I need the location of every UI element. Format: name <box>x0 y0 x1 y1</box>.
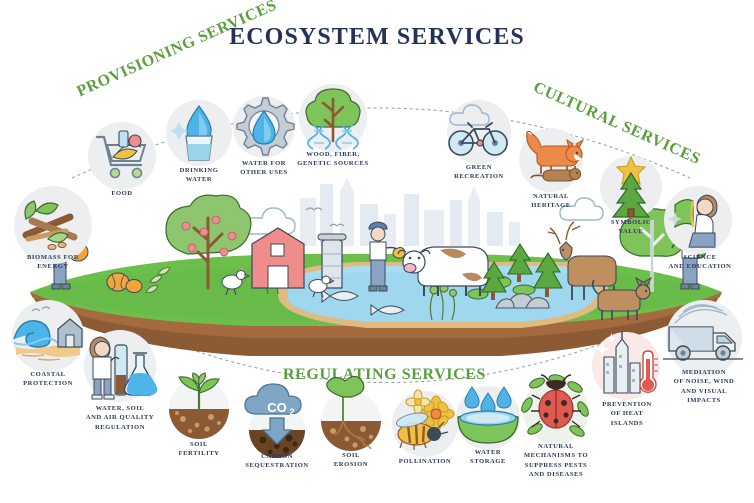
label-food: FOOD <box>77 189 167 198</box>
truck-noise-icon <box>663 301 745 367</box>
infographic-canvas: ECOSYSTEM SERVICES PROVISIONING SERVICES… <box>0 0 754 503</box>
water-basin-droplets-icon <box>454 385 522 447</box>
firewood-leaves-icon <box>18 195 88 255</box>
red-barn-icon <box>252 228 304 288</box>
label-pest-suppression: NATURAL MECHANISMS TO SUPPRESS PESTS AND… <box>498 442 614 479</box>
label-natural-heritage: NATURAL HERITAGE <box>506 192 596 211</box>
shopping-cart-food-icon <box>91 127 153 183</box>
label-symbolic-value: SYMBOLIC VALUE <box>586 218 676 237</box>
gear-droplet-icon <box>235 97 293 155</box>
scientist-flask-icon <box>82 331 158 401</box>
water-glass-droplet-icon <box>170 102 228 162</box>
label-green-recreation: GREEN RECREATION <box>434 163 524 182</box>
shrub-roots-soil-icon <box>313 383 389 461</box>
label-wood-fiber-genetic: WOOD, FIBER, GENETIC SOURCES <box>278 150 388 169</box>
person-reading-book-icon <box>667 187 733 251</box>
tree-dna-icon <box>301 85 365 147</box>
wave-house-icon <box>12 303 84 365</box>
fox-marten-icon <box>517 128 585 186</box>
bee-flowers-icon <box>390 390 460 454</box>
svg-text:CO: CO <box>267 400 287 415</box>
label-noise-mediation: MEDIATION OF NOISE, WIND AND VISUAL IMPA… <box>646 368 754 405</box>
sprout-soil-icon <box>163 373 235 445</box>
label-science-education: SCIENCE AND EDUCATION <box>648 253 752 272</box>
bicycle-cloud-icon <box>446 101 512 161</box>
star-fir-tree-icon <box>602 155 660 217</box>
label-biomass-for-energy: BIOMASS FOR ENERGY <box>0 253 108 272</box>
label-quality-regulation: WATER, SOIL AND AIR QUALITY REGULATION <box>63 404 177 432</box>
svg-text:2: 2 <box>289 407 294 417</box>
